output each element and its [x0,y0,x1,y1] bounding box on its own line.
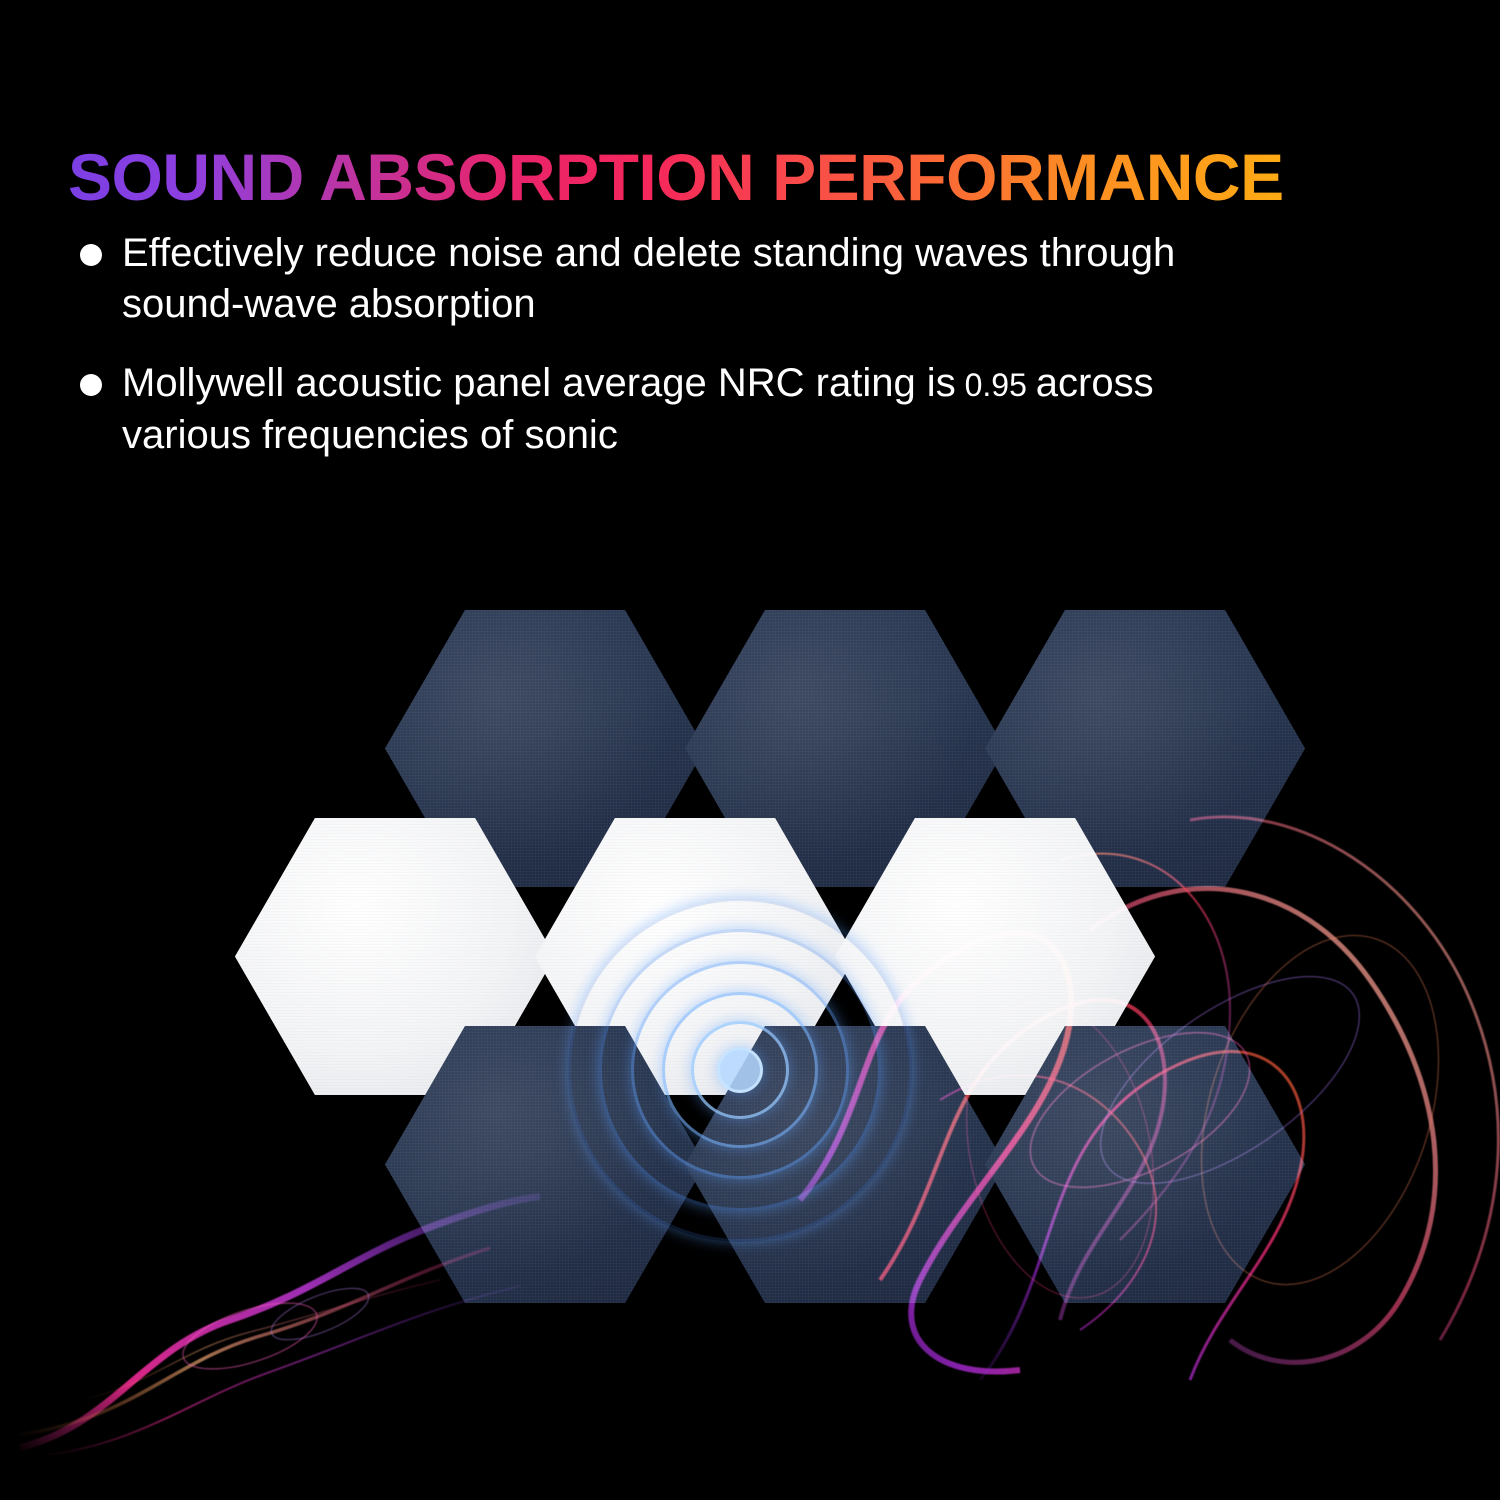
product-feature-banner: SOUND ABSORPTION PERFORMANCE Effectively… [0,0,1500,1500]
bullet-dot-icon [80,244,102,266]
bullet-text-2: Mollywell acoustic panel average NRC rat… [122,358,1260,460]
bullet-dot-icon [80,374,102,396]
bullet-text-1: Effectively reduce noise and delete stan… [122,228,1260,330]
nrc-value: 0.95 [956,367,1036,403]
bullet-text-2-lead: Mollywell acoustic panel average NRC rat… [122,361,956,405]
list-item: Mollywell acoustic panel average NRC rat… [80,358,1260,460]
product-artwork [0,500,1500,1500]
page-title: SOUND ABSORPTION PERFORMANCE [68,144,1284,210]
hexagon-panel-cluster [225,550,1145,1400]
list-item: Effectively reduce noise and delete stan… [80,228,1260,330]
feature-bullet-list: Effectively reduce noise and delete stan… [80,228,1260,489]
